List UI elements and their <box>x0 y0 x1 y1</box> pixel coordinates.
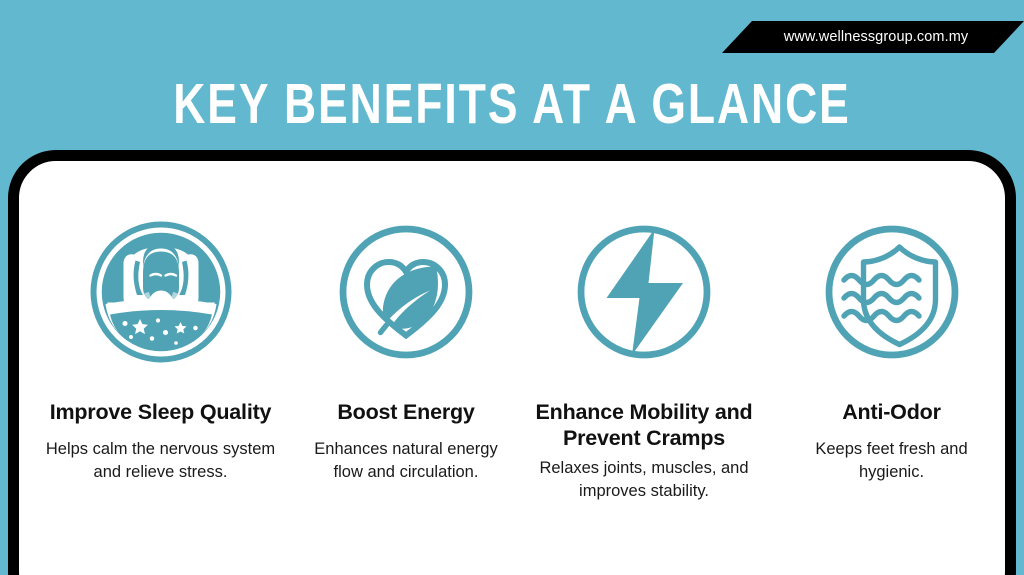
heart-leaf-icon <box>331 217 481 367</box>
benefit-heading: Boost Energy <box>337 399 474 425</box>
benefit-item-anti-odor: Anti-Odor Keeps feet fresh and hygienic. <box>778 217 1005 503</box>
benefit-description: Enhances natural energy flow and circula… <box>311 438 501 484</box>
benefit-heading: Enhance Mobility and Prevent Cramps <box>510 399 778 451</box>
benefit-description: Keeps feet fresh and hygienic. <box>792 438 992 484</box>
benefit-heading: Improve Sleep Quality <box>50 399 272 425</box>
benefit-item-mobility: Enhance Mobility and Prevent Cramps Rela… <box>510 217 778 503</box>
website-url-text: www.wellnessgroup.com.my <box>778 29 969 45</box>
sleeping-person-icon <box>86 217 236 367</box>
lightning-bolt-icon <box>569 217 719 367</box>
benefit-item-energy: Boost Energy Enhances natural energy flo… <box>302 217 510 503</box>
page-title: Key Benefits at a Glance <box>113 72 912 136</box>
benefit-description: Relaxes joints, muscles, and improves st… <box>519 457 769 503</box>
benefit-heading: Anti-Odor <box>842 399 941 425</box>
website-url-banner: www.wellnessgroup.com.my <box>722 21 1024 53</box>
benefits-card: Improve Sleep Quality Helps calm the ner… <box>8 150 1016 575</box>
shield-waves-icon <box>817 217 967 367</box>
benefit-description: Helps calm the nervous system and reliev… <box>31 438 291 484</box>
benefits-grid: Improve Sleep Quality Helps calm the ner… <box>19 161 1005 503</box>
benefit-item-sleep: Improve Sleep Quality Helps calm the ner… <box>19 217 302 503</box>
